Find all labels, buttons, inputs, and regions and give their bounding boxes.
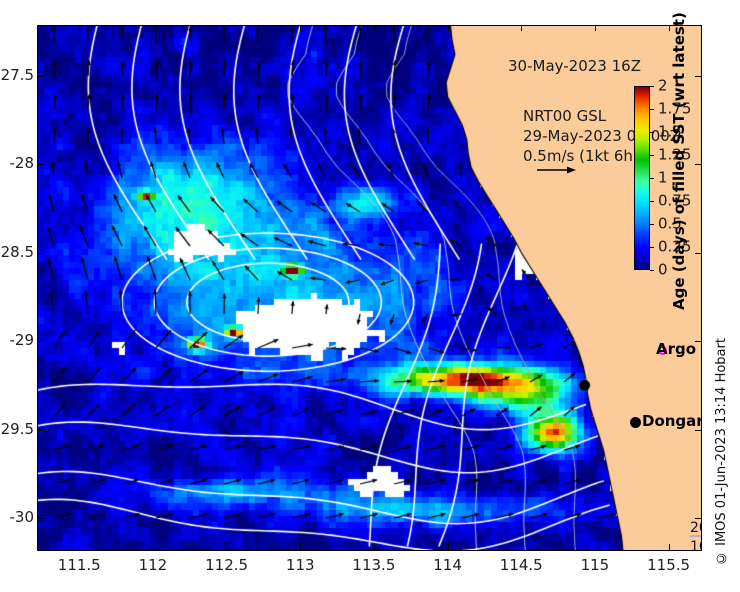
x-axis-tick [448, 544, 449, 550]
map-plot-area[interactable]: 30-May-2023 16Z NRT00 GSL 29-May-2023 06… [37, 25, 702, 551]
x-axis-tick [521, 544, 522, 550]
product-valid-time-label: 29-May-2023 06:00Z [523, 126, 680, 146]
x-axis-tick-label: 114 [433, 558, 462, 573]
x-axis-tick [669, 544, 670, 550]
depth-1000m-label: 1000m [690, 539, 702, 551]
x-axis-tick [521, 25, 522, 31]
y-axis-tick [695, 518, 701, 519]
colorbar-tick-label: 0 [658, 263, 668, 278]
dongara-station-marker-icon [630, 417, 641, 428]
depth-200m-row: 200m [690, 520, 702, 537]
x-axis-tick [79, 544, 80, 550]
colorbar-tick [650, 109, 654, 110]
y-axis-tick [37, 430, 43, 431]
product-info-block: NRT00 GSL 29-May-2023 06:00Z 0.5m/s (1kt… [523, 106, 680, 166]
colorbar-tick-label: 2 [658, 79, 668, 94]
depth-200m-label: 200m [690, 520, 702, 536]
x-axis-tick [448, 25, 449, 31]
depth-200m-rule-icon [690, 535, 702, 537]
colorbar-tick-label: 1 [658, 171, 668, 186]
bathymetry-depth-legend: 200m 1000m [690, 520, 702, 551]
y-axis-tick [37, 341, 43, 342]
y-axis-tick-label: -29 [10, 333, 35, 348]
x-axis-tick-label: 112.5 [205, 558, 248, 573]
y-axis-tick-label: -29.5 [0, 422, 34, 437]
y-axis-tick-label: -28 [10, 156, 35, 171]
x-axis-tick [595, 544, 596, 550]
y-axis-tick-label: -30 [10, 510, 35, 525]
y-axis-tick-label: -27.5 [0, 68, 34, 83]
x-axis-tick-label: 114.5 [500, 558, 543, 573]
x-axis-tick [300, 544, 301, 550]
x-axis-tick [227, 544, 228, 550]
colorbar-tick [650, 132, 654, 133]
y-axis-tick [695, 430, 701, 431]
y-axis-tick [37, 518, 43, 519]
colorbar-gradient[interactable] [634, 86, 650, 270]
colorbar-tick [650, 178, 654, 179]
depth-1000m-row: 1000m [690, 539, 702, 551]
vector-scale-arrow-icon [536, 164, 576, 176]
colorbar-tick [650, 247, 654, 248]
colorbar-tick [650, 270, 654, 271]
y-axis-tick [37, 164, 43, 165]
x-axis-tick [227, 25, 228, 31]
colorbar-tick [650, 86, 654, 87]
figure-root: 30-May-2023 16Z NRT00 GSL 29-May-2023 06… [0, 0, 740, 592]
colorbar-tick [650, 224, 654, 225]
x-axis-tick-label: 111.5 [58, 558, 101, 573]
y-axis-tick [695, 164, 701, 165]
vector-scale-label: 0.5m/s (1kt 6h) [523, 146, 680, 166]
timestamp-label: 30-May-2023 16Z [508, 57, 641, 75]
x-axis-tick [374, 25, 375, 31]
y-axis-tick [695, 76, 701, 77]
x-axis-tick [79, 25, 80, 31]
x-axis-tick-label: 113.5 [352, 558, 395, 573]
colorbar-tick [650, 201, 654, 202]
dongara-station-label: Dongara [642, 412, 702, 430]
x-axis-tick-label: 115 [581, 558, 610, 573]
x-axis-tick [595, 25, 596, 31]
y-axis-tick [37, 76, 43, 77]
x-axis-tick [153, 25, 154, 31]
x-axis-tick [153, 544, 154, 550]
y-axis-tick [695, 341, 701, 342]
x-axis-tick [300, 25, 301, 31]
colorbar-title: Age (days) of filled SST (wrt latest) [670, 60, 692, 310]
y-axis-tick-label: -28.5 [0, 245, 34, 260]
y-axis-tick [695, 253, 701, 254]
x-axis-tick [374, 544, 375, 550]
argo-legend-label: Argo [656, 340, 696, 358]
x-axis-tick-label: 113 [286, 558, 315, 573]
credit-label: © IMOS 01-Jun-2023 13:14 Hobart [714, 330, 734, 565]
sst-age-map-canvas[interactable] [38, 26, 701, 550]
product-model-label: NRT00 GSL [523, 106, 680, 126]
y-axis-tick [37, 253, 43, 254]
colorbar-tick [650, 155, 654, 156]
x-axis-tick-label: 112 [139, 558, 168, 573]
x-axis-tick-label: 115.5 [647, 558, 690, 573]
